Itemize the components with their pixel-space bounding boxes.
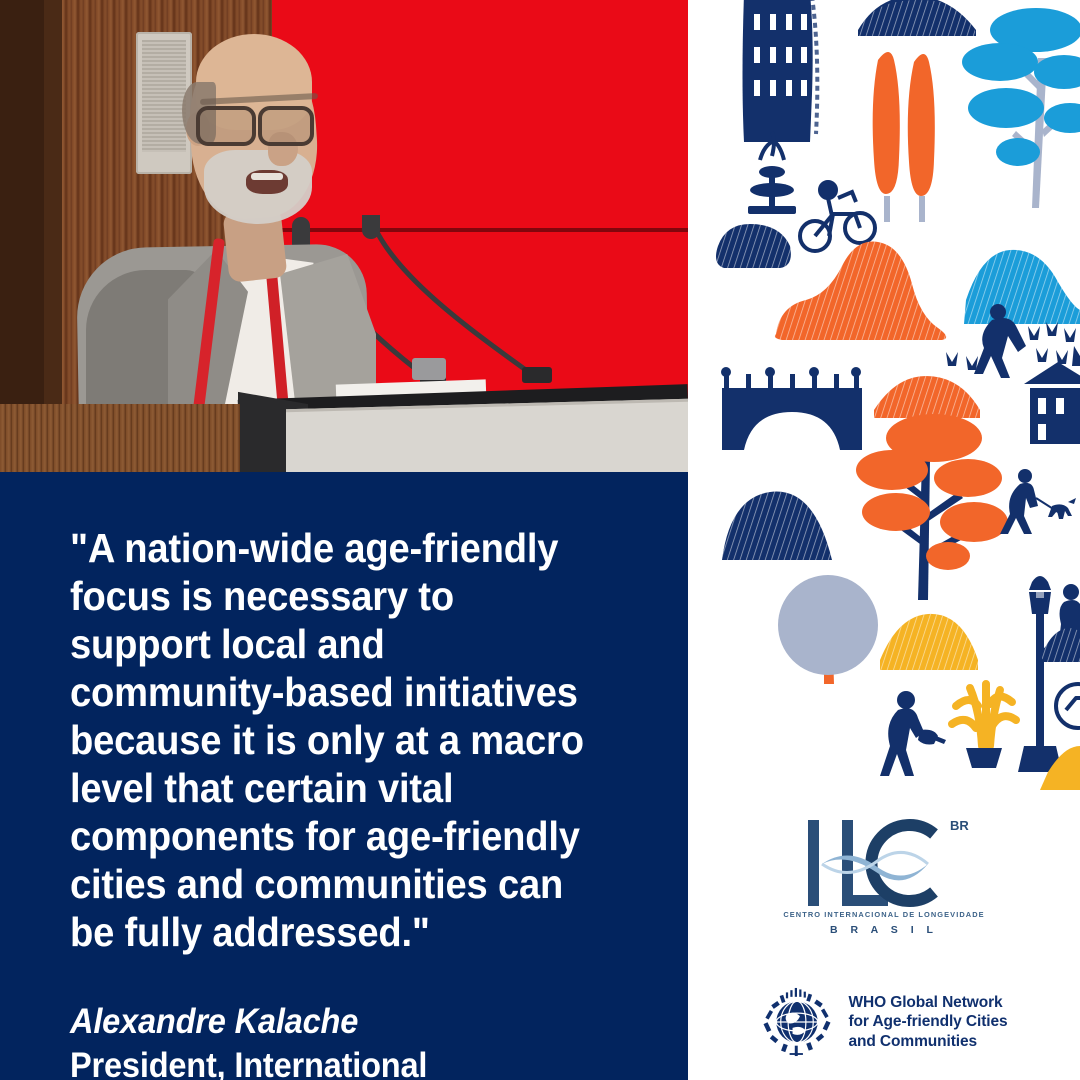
svg-text:BR: BR bbox=[950, 818, 969, 833]
house-icon bbox=[1024, 362, 1080, 444]
eyeglasses bbox=[196, 104, 326, 140]
who-network-logo: WHO Global Network for Age-friendly Citi… bbox=[688, 972, 1080, 1072]
speaker-photo bbox=[0, 0, 688, 472]
quote-block: "A nation-wide age-friendly focus is nec… bbox=[0, 472, 688, 1080]
bicycle-sign-icon bbox=[1056, 684, 1080, 728]
orange-layered-tree-icon bbox=[856, 414, 1008, 600]
bush-navy-icon bbox=[716, 224, 791, 268]
person-walking-dog-icon bbox=[1000, 469, 1076, 534]
hill-navy-2-icon bbox=[722, 492, 832, 560]
attribution-role: President, International Longevity Centr… bbox=[70, 1044, 591, 1080]
ilc-wordmark: BR bbox=[784, 812, 984, 924]
who-network-label: WHO Global Network for Age-friendly Citi… bbox=[848, 993, 1007, 1052]
attribution-name: Alexandre Kalache bbox=[70, 1000, 591, 1044]
left-column: "A nation-wide age-friendly focus is nec… bbox=[0, 0, 688, 1080]
hill-orange-icon bbox=[775, 242, 946, 341]
lectern-clip bbox=[412, 358, 446, 380]
quote-text: "A nation-wide age-friendly focus is nec… bbox=[70, 524, 591, 956]
round-tree-icon bbox=[778, 575, 878, 684]
potted-plant-icon bbox=[952, 684, 1016, 768]
broadleaf-tree-icon bbox=[962, 8, 1080, 208]
ilc-logo: BR CENTRO INTERNACIONAL DE LONGEVIDADE B… bbox=[688, 812, 1080, 952]
poplar-trees-icon bbox=[873, 52, 935, 222]
cyclist-icon bbox=[800, 182, 875, 251]
bridge-icon bbox=[721, 367, 862, 450]
right-column: BR CENTRO INTERNACIONAL DE LONGEVIDADE B… bbox=[688, 0, 1080, 1080]
wall-edge-dark bbox=[0, 0, 44, 472]
fountain-icon bbox=[748, 132, 796, 214]
attribution: Alexandre Kalache President, Internation… bbox=[70, 1000, 591, 1080]
lectern-front bbox=[286, 399, 688, 472]
quote-card: "A nation-wide age-friendly focus is nec… bbox=[0, 0, 1080, 1080]
hill-orange-small-icon bbox=[874, 376, 980, 418]
wood-wall-lower bbox=[0, 404, 240, 472]
wall-panel bbox=[44, 0, 62, 472]
hill-navy-icon bbox=[858, 0, 976, 36]
mouth bbox=[246, 170, 288, 194]
apartment-building-icon bbox=[743, 0, 818, 142]
age-friendly-illustration bbox=[688, 0, 1080, 800]
person-watering-icon bbox=[880, 691, 946, 776]
street-lamp-icon bbox=[1018, 576, 1062, 772]
hill-blue-icon bbox=[964, 250, 1080, 324]
bush-navy-2-icon bbox=[1041, 628, 1080, 662]
who-globe-icon bbox=[760, 985, 834, 1059]
hill-yellow-icon bbox=[880, 614, 978, 670]
ilc-country: B R A S I L bbox=[830, 924, 938, 936]
